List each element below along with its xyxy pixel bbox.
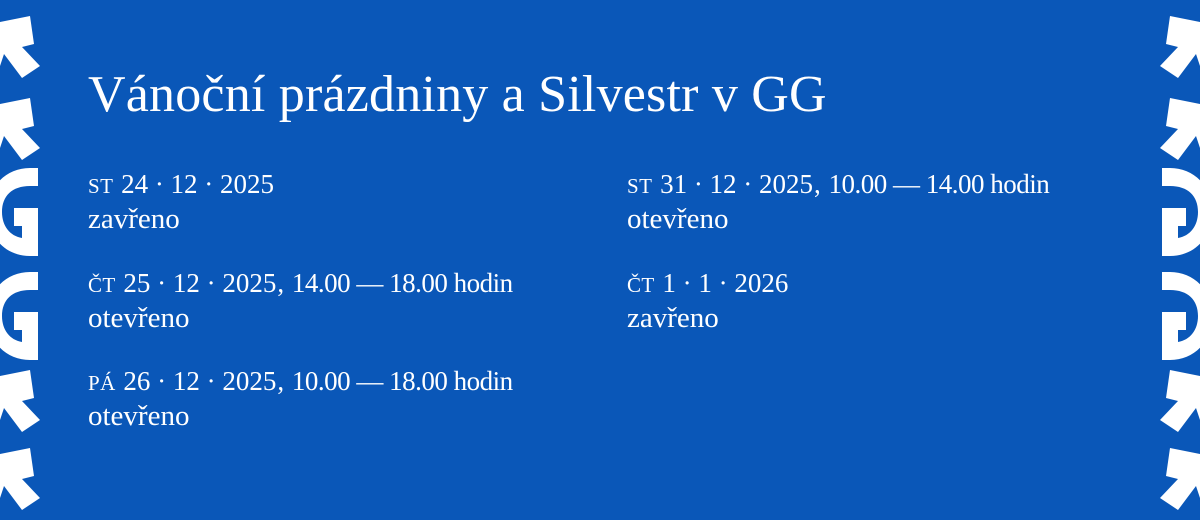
decor-glyph-group-left bbox=[0, 16, 40, 510]
entry-day-abbrev: ST bbox=[88, 174, 113, 198]
opening-hours-column-left: ST 24 · 12 · 2025 zavřeno ČT 25 · 12 · 2… bbox=[88, 168, 628, 434]
decor-angular-glyph-top-1-mirror bbox=[1160, 16, 1200, 78]
entry-hours: 10.00 — 14.00 hodin bbox=[828, 169, 1051, 199]
entry-status: otevřeno bbox=[627, 202, 1167, 237]
page-title: Vánoční prázdniny a Silvestr v GG bbox=[88, 68, 827, 123]
decor-g-glyph-2 bbox=[0, 272, 38, 360]
entry-status: zavřeno bbox=[88, 202, 628, 237]
decor-g-glyph-1 bbox=[0, 168, 38, 256]
entry-date-line: PÁ 26 · 12 · 2025, 10.00 — 18.00 hodin bbox=[88, 365, 628, 398]
opening-hours-column-right: ST 31 · 12 · 2025, 10.00 — 14.00 hodin o… bbox=[627, 168, 1167, 434]
decor-g-glyph-1-mirror bbox=[1162, 168, 1200, 256]
entry-date-value: 25 · 12 · 2025 bbox=[122, 268, 277, 298]
entry-comma: , bbox=[277, 366, 284, 396]
poster-canvas: Vánoční prázdniny a Silvestr v GG ST 24 … bbox=[0, 0, 1200, 520]
entry-date-line: ČT 25 · 12 · 2025, 14.00 — 18.00 hodin bbox=[88, 267, 628, 300]
entry-date-value: 24 · 12 · 2025 bbox=[120, 169, 275, 199]
decor-angular-glyph-top-2 bbox=[0, 98, 40, 160]
entry-comma: , bbox=[814, 169, 821, 199]
decor-angular-glyph-bottom-1 bbox=[0, 370, 40, 432]
entry-hours: 14.00 — 18.00 hodin bbox=[291, 268, 514, 298]
entry-status: otevřeno bbox=[88, 301, 628, 336]
entry-date-line: ČT 1 · 1 · 2026 bbox=[627, 267, 1167, 300]
decor-angular-glyph-bottom-2 bbox=[0, 448, 40, 510]
edge-decoration-left bbox=[0, 0, 60, 520]
decor-angular-glyph-bottom-2-mirror bbox=[1160, 448, 1200, 510]
entry-date-value: 26 · 12 · 2025 bbox=[122, 366, 277, 396]
opening-hours-entry: PÁ 26 · 12 · 2025, 10.00 — 18.00 hodin o… bbox=[88, 365, 628, 434]
opening-hours-entry: ST 24 · 12 · 2025 zavřeno bbox=[88, 168, 628, 237]
entry-day-abbrev: PÁ bbox=[88, 371, 116, 395]
entry-comma: , bbox=[277, 268, 284, 298]
entry-day-abbrev: ST bbox=[627, 174, 652, 198]
entry-date-line: ST 24 · 12 · 2025 bbox=[88, 168, 628, 201]
entry-hours: 10.00 — 18.00 hodin bbox=[291, 366, 514, 396]
entry-date-line: ST 31 · 12 · 2025, 10.00 — 14.00 hodin bbox=[627, 168, 1167, 201]
entry-date-value: 1 · 1 · 2026 bbox=[661, 268, 789, 298]
entry-date-value: 31 · 12 · 2025 bbox=[659, 169, 814, 199]
entry-status: otevřeno bbox=[88, 399, 628, 434]
decor-g-glyph-2-mirror bbox=[1162, 272, 1200, 360]
poster-content: Vánoční prázdniny a Silvestr v GG ST 24 … bbox=[88, 0, 1140, 520]
decor-angular-glyph-top-1 bbox=[0, 16, 40, 78]
opening-hours-columns: ST 24 · 12 · 2025 zavřeno ČT 25 · 12 · 2… bbox=[88, 168, 1140, 434]
opening-hours-entry: ST 31 · 12 · 2025, 10.00 — 14.00 hodin o… bbox=[627, 168, 1167, 237]
decor-angular-glyph-top-2-mirror bbox=[1160, 98, 1200, 160]
entry-day-abbrev: ČT bbox=[627, 273, 655, 297]
opening-hours-entry: ČT 1 · 1 · 2026 zavřeno bbox=[627, 267, 1167, 336]
entry-status: zavřeno bbox=[627, 301, 1167, 336]
opening-hours-entry: ČT 25 · 12 · 2025, 14.00 — 18.00 hodin o… bbox=[88, 267, 628, 336]
entry-day-abbrev: ČT bbox=[88, 273, 116, 297]
